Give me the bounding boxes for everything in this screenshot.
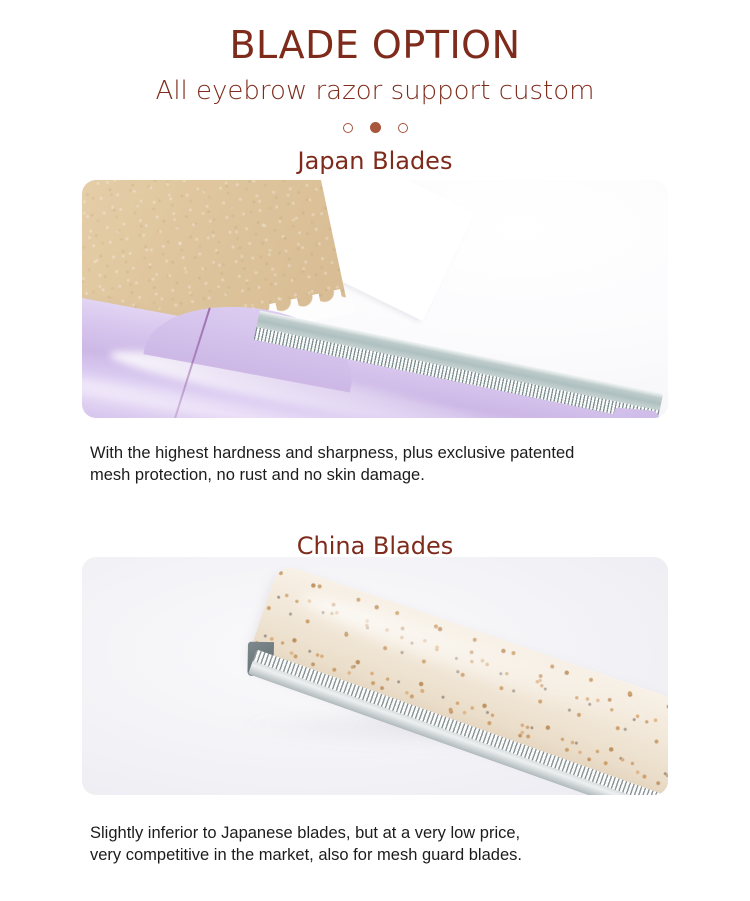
caption-japan-line-1: With the highest hardness and sharpness,…: [90, 442, 690, 464]
pagination-dots: [0, 122, 750, 133]
caption-china-blades: Slightly inferior to Japanese blades, bu…: [90, 822, 690, 866]
blade-option-page: BLADE OPTION All eyebrow razor support c…: [0, 0, 750, 901]
pagination-dot-3[interactable]: [398, 123, 408, 133]
pagination-dot-2[interactable]: [370, 122, 381, 133]
section-heading-japan: Japan Blades: [0, 147, 750, 175]
caption-china-line-1: Slightly inferior to Japanese blades, bu…: [90, 822, 690, 844]
pagination-dot-1[interactable]: [343, 123, 353, 133]
product-image-japan-blades: [82, 180, 668, 418]
china-blade-scene: [82, 557, 668, 795]
caption-japan-line-2: mesh protection, no rust and no skin dam…: [90, 464, 690, 486]
page-subtitle: All eyebrow razor support custom: [0, 78, 750, 104]
page-header: BLADE OPTION All eyebrow razor support c…: [0, 0, 750, 133]
japan-blade-scene: [82, 180, 668, 418]
caption-japan-blades: With the highest hardness and sharpness,…: [90, 442, 690, 486]
page-title: BLADE OPTION: [0, 0, 750, 64]
section-heading-china: China Blades: [0, 532, 750, 560]
product-image-china-blades: [82, 557, 668, 795]
caption-china-line-2: very competitive in the market, also for…: [90, 844, 690, 866]
